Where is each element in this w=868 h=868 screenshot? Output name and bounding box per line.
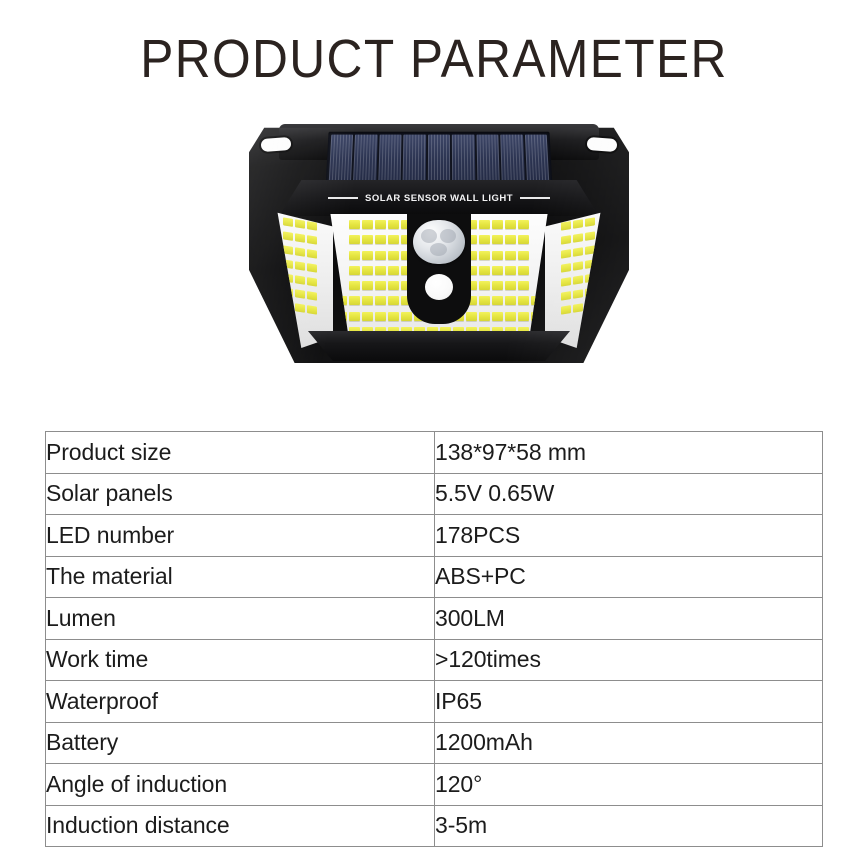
led [307, 221, 317, 231]
led [295, 289, 305, 299]
table-row: Solar panels 5.5V 0.65W [46, 473, 823, 515]
led [362, 281, 373, 290]
led [362, 266, 373, 275]
led [505, 235, 516, 244]
led [561, 221, 571, 231]
led [573, 247, 583, 257]
led [492, 251, 503, 260]
product-image: SOLAR SENSOR WALL LIGHT [249, 118, 629, 363]
led [307, 305, 317, 315]
led [307, 263, 317, 273]
solar-cell [353, 135, 377, 184]
spec-value: 3-5m [435, 805, 823, 847]
table-row: Work time >120times [46, 639, 823, 681]
table-row: Battery 1200mAh [46, 722, 823, 764]
solar-cell [500, 135, 524, 184]
spec-table-body: Product size 138*97*58 mm Solar panels 5… [46, 432, 823, 847]
spec-label: Battery [46, 722, 435, 764]
brand-band: SOLAR SENSOR WALL LIGHT [279, 180, 599, 216]
led [561, 263, 571, 273]
spec-value: 1200mAh [435, 722, 823, 764]
led [505, 251, 516, 260]
led [505, 312, 516, 321]
spec-label: Work time [46, 639, 435, 681]
table-row: Product size 138*97*58 mm [46, 432, 823, 474]
led [573, 289, 583, 299]
table-row: Induction distance 3-5m [46, 805, 823, 847]
spec-value: >120times [435, 639, 823, 681]
pir-motion-sensor-icon [413, 220, 465, 264]
page-title: PRODUCT PARAMETER [35, 28, 834, 90]
led [518, 235, 529, 244]
spec-table: Product size 138*97*58 mm Solar panels 5… [45, 431, 823, 847]
spec-label: Lumen [46, 598, 435, 640]
sensor-column [407, 214, 471, 324]
table-row: Lumen 300LM [46, 598, 823, 640]
solar-cell [329, 135, 354, 184]
led [561, 277, 571, 287]
side-led-row [283, 245, 317, 258]
led [518, 312, 529, 321]
led [505, 296, 516, 305]
led [375, 296, 386, 305]
led [479, 296, 490, 305]
led [479, 281, 490, 290]
led [362, 296, 373, 305]
spec-value: 5.5V 0.65W [435, 473, 823, 515]
spec-value: ABS+PC [435, 556, 823, 598]
led [585, 217, 595, 227]
solar-cell [428, 135, 451, 184]
led [573, 261, 583, 271]
product-parameter-page: PRODUCT PARAMETER SOLAR SENSOR WALL LIGH… [0, 0, 868, 868]
led [388, 312, 399, 321]
spec-value: 138*97*58 mm [435, 432, 823, 474]
led [349, 220, 360, 229]
led [518, 296, 529, 305]
led [388, 281, 399, 290]
led [518, 281, 529, 290]
led [295, 275, 305, 285]
side-led-row [561, 245, 595, 258]
brand-label: SOLAR SENSOR WALL LIGHT [365, 193, 513, 204]
spec-label: Product size [46, 432, 435, 474]
side-led-row [283, 259, 317, 272]
led [388, 296, 399, 305]
led [388, 266, 399, 275]
led [573, 303, 583, 313]
led [349, 296, 360, 305]
led [307, 277, 317, 287]
led [388, 235, 399, 244]
spec-value: IP65 [435, 681, 823, 723]
spec-label: Solar panels [46, 473, 435, 515]
led [375, 235, 386, 244]
spec-label: Waterproof [46, 681, 435, 723]
solar-cell [378, 135, 402, 184]
led [362, 235, 373, 244]
led [492, 220, 503, 229]
led [492, 296, 503, 305]
led [307, 249, 317, 259]
led [349, 312, 360, 321]
led [349, 251, 360, 260]
solar-cell [476, 135, 500, 184]
led [518, 251, 529, 260]
led [492, 281, 503, 290]
led [401, 312, 412, 321]
led [518, 220, 529, 229]
solar-cell [452, 135, 475, 184]
led [505, 220, 516, 229]
spec-label: Angle of induction [46, 764, 435, 806]
led [479, 235, 490, 244]
led [388, 220, 399, 229]
led [573, 233, 583, 243]
led [375, 312, 386, 321]
led [585, 231, 595, 241]
led [283, 231, 293, 241]
led [561, 235, 571, 245]
pir-facet [440, 229, 456, 243]
led [492, 266, 503, 275]
led [479, 251, 490, 260]
led [561, 305, 571, 315]
solar-cell [524, 135, 549, 184]
led [505, 266, 516, 275]
table-row: The material ABS+PC [46, 556, 823, 598]
solar-panel [325, 132, 552, 187]
led [295, 247, 305, 257]
side-led-row [283, 231, 317, 244]
led [388, 251, 399, 260]
led [362, 220, 373, 229]
led [362, 251, 373, 260]
spec-value: 300LM [435, 598, 823, 640]
led [573, 275, 583, 285]
led [466, 312, 477, 321]
led [307, 235, 317, 245]
spec-value: 178PCS [435, 515, 823, 557]
led [375, 281, 386, 290]
led [479, 312, 490, 321]
brand-dash-right-icon [520, 197, 550, 199]
table-row: LED number 178PCS [46, 515, 823, 557]
side-led-row [561, 231, 595, 244]
led [307, 291, 317, 301]
side-led-row [561, 259, 595, 272]
spec-label: Induction distance [46, 805, 435, 847]
led [479, 266, 490, 275]
led [349, 235, 360, 244]
pir-facet [430, 243, 447, 256]
indicator-light-icon [425, 274, 453, 300]
led [492, 312, 503, 321]
led [295, 219, 305, 229]
led [362, 312, 373, 321]
led [375, 220, 386, 229]
brand-dash-left-icon [328, 197, 358, 199]
table-row: Angle of induction 120° [46, 764, 823, 806]
spec-label: LED number [46, 515, 435, 557]
led [479, 220, 490, 229]
led [295, 303, 305, 313]
spec-label: The material [46, 556, 435, 598]
mounting-hole-left-icon [261, 137, 292, 152]
led [295, 233, 305, 243]
led [492, 235, 503, 244]
led [561, 249, 571, 259]
led [295, 261, 305, 271]
spec-value: 120° [435, 764, 823, 806]
led [349, 281, 360, 290]
led [573, 219, 583, 229]
solar-cell [403, 135, 426, 184]
bottom-bevel [283, 331, 595, 361]
led [375, 251, 386, 260]
solar-cell-array [329, 135, 550, 184]
led [283, 217, 293, 227]
led [349, 266, 360, 275]
led [518, 266, 529, 275]
pir-facet [421, 229, 437, 243]
mounting-hole-right-icon [587, 137, 618, 152]
led [561, 291, 571, 301]
led [505, 281, 516, 290]
led [375, 266, 386, 275]
table-row: Waterproof IP65 [46, 681, 823, 723]
